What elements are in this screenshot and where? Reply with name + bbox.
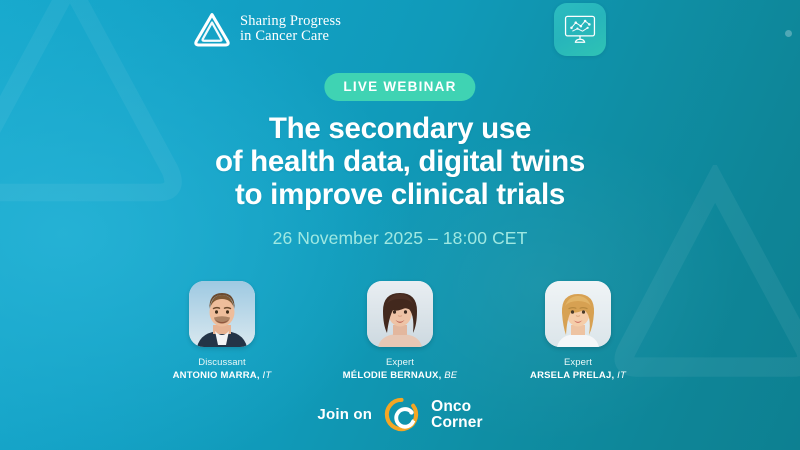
webinar-poster: Sharing Progress in Cancer Care [0,0,800,450]
speaker-name: ARSELA PRELAJ, IT [518,370,638,381]
avatar-photo [367,281,433,347]
title-line-2: of health data, digital twins [0,145,800,178]
title-line-3: to improve clinical trials [0,178,800,211]
avatar-photo [545,281,611,347]
speaker-card: Discussant ANTONIO MARRA, IT [162,281,282,381]
speaker-country: BE [444,370,457,381]
speaker-name: MÉLODIE BERNAUX, BE [340,370,460,381]
event-datetime: 26 November 2025 – 18:00 CET [0,228,800,249]
avatar-antonio-marra-icon [189,281,255,347]
speaker-card: Expert ARSELA PRELAJ, IT [518,281,638,381]
monitor-network-badge [554,3,606,56]
speaker-card: Expert MÉLODIE BERNAUX, BE [340,281,460,381]
avatar-arsela-prelaj-icon [545,281,611,347]
speaker-role: Expert [518,357,638,368]
speaker-role: Discussant [162,357,282,368]
join-footer: Join on Onco Corner [0,396,800,433]
spcc-brand-line2: in Cancer Care [240,29,341,45]
speaker-role: Expert [340,357,460,368]
speaker-name-text: ARSELA PRELAJ, [530,370,614,381]
spcc-brand-name: Sharing Progress in Cancer Care [240,14,341,45]
speaker-name-text: ANTONIO MARRA, [173,370,260,381]
oncocorner-line1: Onco [431,399,482,415]
oncocorner-brand-name: Onco Corner [431,399,482,431]
speaker-name-text: MÉLODIE BERNAUX, [343,370,442,381]
header: Sharing Progress in Cancer Care [0,0,800,62]
oncocorner-line2: Corner [431,415,482,431]
live-webinar-badge: LIVE WEBINAR [324,73,475,101]
spcc-triangle-logo-icon [193,11,231,47]
avatar-melodie-bernaux-icon [367,281,433,347]
avatar-photo [189,281,255,347]
join-label: Join on [317,406,372,423]
speaker-country: IT [263,370,272,381]
oncocorner-logo-icon [383,396,420,433]
speaker-country: IT [617,370,626,381]
speaker-list: Discussant ANTONIO MARRA, IT [0,281,800,381]
page-title: The secondary use of health data, digita… [0,112,800,211]
monitor-network-icon [563,14,597,45]
spcc-brand-line1: Sharing Progress [240,13,341,29]
title-line-1: The secondary use [0,112,800,145]
speaker-name: ANTONIO MARRA, IT [162,370,282,381]
spcc-brand: Sharing Progress in Cancer Care [193,11,341,47]
